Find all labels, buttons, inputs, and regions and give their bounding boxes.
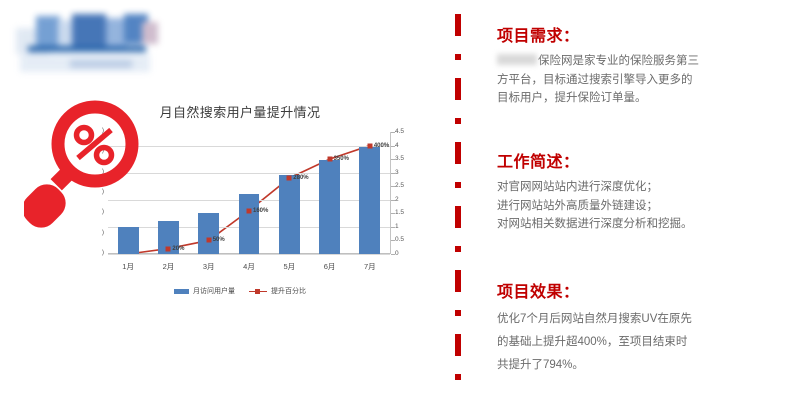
- x-axis-label: 5月: [283, 261, 295, 272]
- bar: [359, 147, 380, 254]
- x-axis-label: 2月: [163, 261, 175, 272]
- divider-dot: [455, 310, 461, 316]
- gridline: [108, 254, 390, 255]
- bar: [239, 194, 260, 254]
- body-line: 方平台，目标通过搜索引擎导入更多的: [497, 71, 779, 90]
- y-right-tick-label: 4: [395, 143, 399, 150]
- legend-swatch-bar-icon: [174, 289, 189, 294]
- redacted-brand-name: [497, 54, 537, 65]
- bar: [198, 213, 219, 254]
- gridline: [108, 173, 390, 174]
- x-axis-label: 4月: [243, 261, 255, 272]
- section-body: 保险网是家专业的保险服务第三方平台，目标通过搜索引擎导入更多的目标用户，提升保险…: [497, 52, 779, 108]
- section-body: 对官网网站站内进行深度优化；进行网站站外高质量外链建设；对网站相关数据进行深度分…: [497, 178, 779, 234]
- right-text-panel: 项目需求：保险网是家专业的保险服务第三方平台，目标通过搜索引擎导入更多的目标用户…: [497, 0, 787, 400]
- y-right-tick-label: 4.5: [395, 129, 404, 136]
- legend-item-line: 提升百分比: [249, 286, 306, 296]
- legend-swatch-line-icon: [249, 289, 267, 294]
- magnifier-percent-icon: [24, 100, 142, 230]
- y-right-tick-label: 1.5: [395, 210, 404, 217]
- line-data-point: [327, 157, 332, 162]
- section-body: 优化7个月后网站自然月搜索UV在原先的基础上提升超400%，至项目结束时共提升了…: [497, 308, 779, 377]
- body-line: 目标用户，提升保险订单量。: [497, 89, 779, 108]
- divider-dash: [455, 142, 461, 164]
- divider-dot: [455, 182, 461, 188]
- y-left-tick-label: ): [102, 230, 104, 237]
- line-data-label: 280%: [293, 175, 308, 181]
- y-right-tick-label: 1: [395, 224, 399, 231]
- line-data-label: 20%: [172, 246, 184, 252]
- content-section: 项目需求：保险网是家专业的保险服务第三方平台，目标通过搜索引擎导入更多的目标用户…: [497, 22, 779, 108]
- brand-logo-redacted: [14, 6, 160, 72]
- divider-dash: [455, 206, 461, 228]
- divider-dash: [455, 270, 461, 292]
- chart-plot-area: 00.511.522.533.544.5)))))))1月2月3月4月5月6月7…: [108, 132, 390, 254]
- section-heading: 项目需求：: [497, 22, 779, 46]
- x-axis-label: 3月: [203, 261, 215, 272]
- x-axis-label: 1月: [122, 261, 134, 272]
- line-data-point: [247, 208, 252, 213]
- legend-item-bars: 月访问用户量: [174, 286, 235, 296]
- line-data-label: 50%: [213, 237, 225, 243]
- line-data-point: [287, 176, 292, 181]
- divider-dash: [455, 78, 461, 100]
- body-line: 的基础上提升超400%，至项目结束时: [497, 331, 779, 354]
- x-axis-label: 7月: [364, 261, 376, 272]
- y-right-tick-label: 0: [395, 251, 399, 258]
- y-right-tick-label: 0.5: [395, 237, 404, 244]
- line-data-point: [166, 246, 171, 251]
- line-data-label: 350%: [334, 156, 349, 162]
- bar: [319, 160, 340, 254]
- divider-dot: [455, 54, 461, 60]
- vertical-dashed-divider: [455, 14, 461, 386]
- divider-dot: [455, 246, 461, 252]
- body-line: 对网站相关数据进行深度分析和挖掘。: [497, 215, 779, 234]
- body-line: 保险网是家专业的保险服务第三: [497, 52, 779, 71]
- legend-label-bars: 月访问用户量: [193, 286, 235, 296]
- body-line: 共提升了794%。: [497, 354, 779, 377]
- divider-dot: [455, 374, 461, 380]
- line-data-point: [367, 143, 372, 148]
- y-right-axis: [390, 132, 391, 254]
- body-line: 优化7个月后网站自然月搜索UV在原先: [497, 308, 779, 331]
- divider-dash: [455, 334, 461, 356]
- legend-label-line: 提升百分比: [271, 286, 306, 296]
- line-data-label: 160%: [253, 208, 268, 214]
- chart-legend: 月访问用户量 提升百分比: [60, 286, 420, 296]
- line-data-point: [206, 238, 211, 243]
- body-line: 进行网站站外高质量外链建设；: [497, 197, 779, 216]
- left-chart-panel: 月自然搜索用户量提升情况 00.511.522.533.544.5)))))))…: [0, 0, 440, 400]
- gridline: [108, 146, 390, 147]
- bar: [118, 227, 139, 254]
- y-left-tick-label: ): [102, 250, 104, 257]
- body-line: 对官网网站站内进行深度优化；: [497, 178, 779, 197]
- x-axis-label: 6月: [324, 261, 336, 272]
- y-right-tick-label: 3.5: [395, 156, 404, 163]
- line-data-label: 400%: [374, 143, 389, 149]
- y-right-tick-label: 2: [395, 197, 399, 204]
- section-heading: 工作简述：: [497, 148, 779, 172]
- bar: [279, 175, 300, 254]
- content-section: 项目效果：优化7个月后网站自然月搜索UV在原先的基础上提升超400%，至项目结束…: [497, 278, 779, 377]
- y-right-tick-label: 2.5: [395, 183, 404, 190]
- divider-dot: [455, 118, 461, 124]
- divider-dash: [455, 14, 461, 36]
- section-heading: 项目效果：: [497, 278, 779, 302]
- content-section: 工作简述：对官网网站站内进行深度优化；进行网站站外高质量外链建设；对网站相关数据…: [497, 148, 779, 234]
- y-right-tick-label: 3: [395, 170, 399, 177]
